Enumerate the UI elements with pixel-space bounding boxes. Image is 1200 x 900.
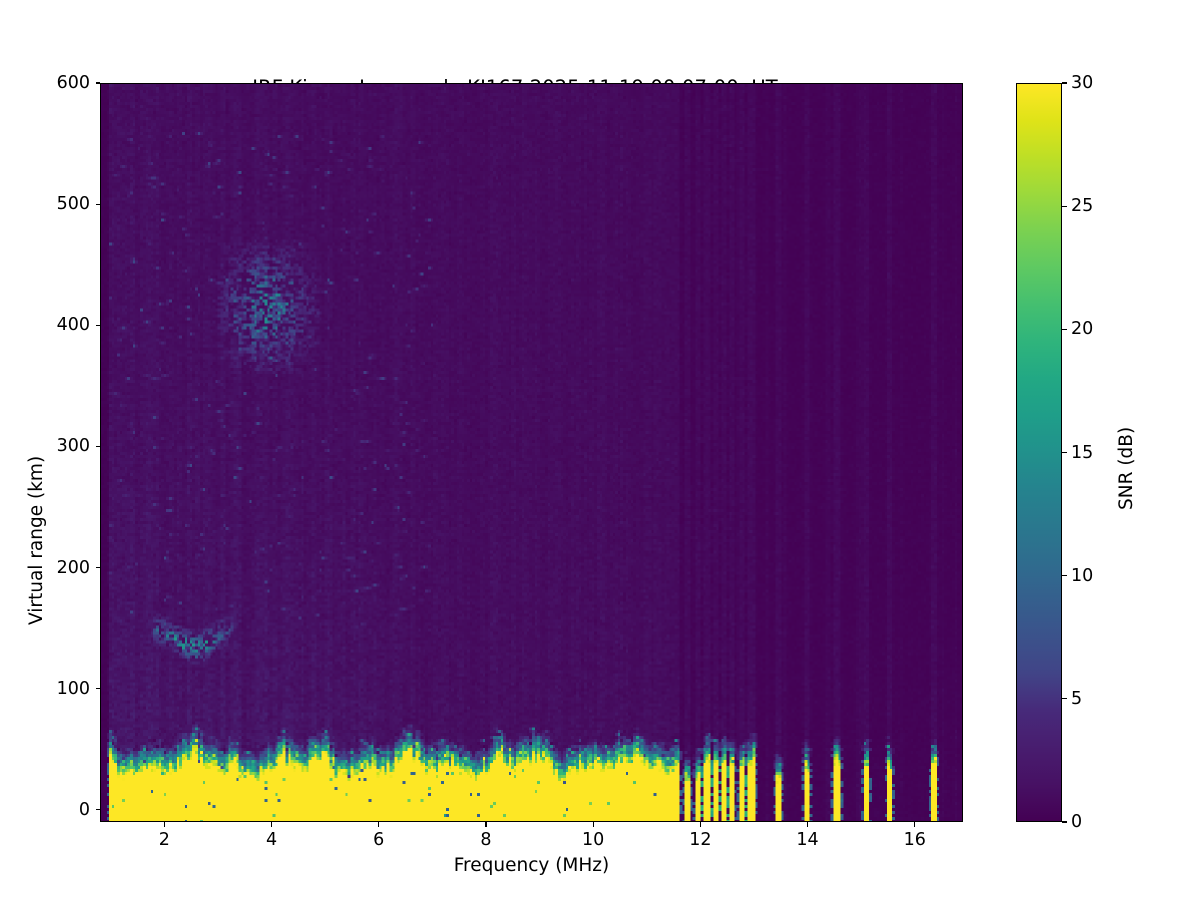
x-tick-label: 16 — [904, 830, 926, 850]
x-tick-mark — [807, 822, 808, 827]
x-tick-mark — [271, 822, 272, 827]
x-tick-label: 12 — [689, 830, 711, 850]
colorbar-tick-mark — [1062, 575, 1067, 576]
colorbar-tick-label: 15 — [1071, 443, 1093, 463]
y-tick-label: 200 — [42, 558, 90, 578]
y-tick-mark — [96, 446, 101, 447]
ionogram-plot-area[interactable] — [100, 83, 963, 822]
y-tick-mark — [96, 567, 101, 568]
x-tick-mark — [700, 822, 701, 827]
x-tick-mark — [164, 822, 165, 827]
y-tick-mark — [96, 204, 101, 205]
y-tick-label: 600 — [42, 73, 90, 93]
x-tick-mark — [485, 822, 486, 827]
colorbar-tick-mark — [1062, 452, 1067, 453]
colorbar-tick-mark — [1062, 329, 1067, 330]
colorbar-tick-label: 30 — [1071, 73, 1093, 93]
y-tick-label: 100 — [42, 679, 90, 699]
y-tick-mark — [96, 809, 101, 810]
y-tick-label: 300 — [42, 436, 90, 456]
y-tick-mark — [96, 82, 101, 83]
colorbar-tick-label: 10 — [1071, 566, 1093, 586]
colorbar-tick-mark — [1062, 206, 1067, 207]
colorbar-tick-mark — [1062, 821, 1067, 822]
colorbar-tick-label: 5 — [1071, 689, 1082, 709]
y-tick-mark — [96, 688, 101, 689]
y-tick-label: 0 — [42, 800, 90, 820]
y-tick-label: 500 — [42, 194, 90, 214]
y-tick-mark — [96, 325, 101, 326]
colorbar-tick-label: 20 — [1071, 319, 1093, 339]
x-tick-label: 4 — [266, 830, 277, 850]
x-tick-mark — [378, 822, 379, 827]
colorbar-tick-label: 0 — [1071, 812, 1082, 832]
x-tick-mark — [914, 822, 915, 827]
x-tick-label: 8 — [480, 830, 491, 850]
x-axis-label: Frequency (MHz) — [100, 855, 963, 876]
ionogram-figure: IRF Kiruna Ionosonde KI167 2025-11-19 00… — [0, 0, 1200, 900]
x-tick-label: 14 — [796, 830, 818, 850]
colorbar-tick-mark — [1062, 698, 1067, 699]
y-axis-label: Virtual range (km) — [26, 456, 47, 625]
colorbar-title: SNR (dB) — [1116, 427, 1137, 510]
x-tick-label: 6 — [373, 830, 384, 850]
y-tick-label: 400 — [42, 315, 90, 335]
colorbar-tick-mark — [1062, 82, 1067, 83]
x-tick-label: 2 — [159, 830, 170, 850]
colorbar-gradient — [1016, 83, 1062, 822]
colorbar-tick-label: 25 — [1071, 196, 1093, 216]
x-tick-mark — [593, 822, 594, 827]
x-tick-label: 10 — [582, 830, 604, 850]
ionogram-heatmap-canvas — [101, 84, 962, 821]
